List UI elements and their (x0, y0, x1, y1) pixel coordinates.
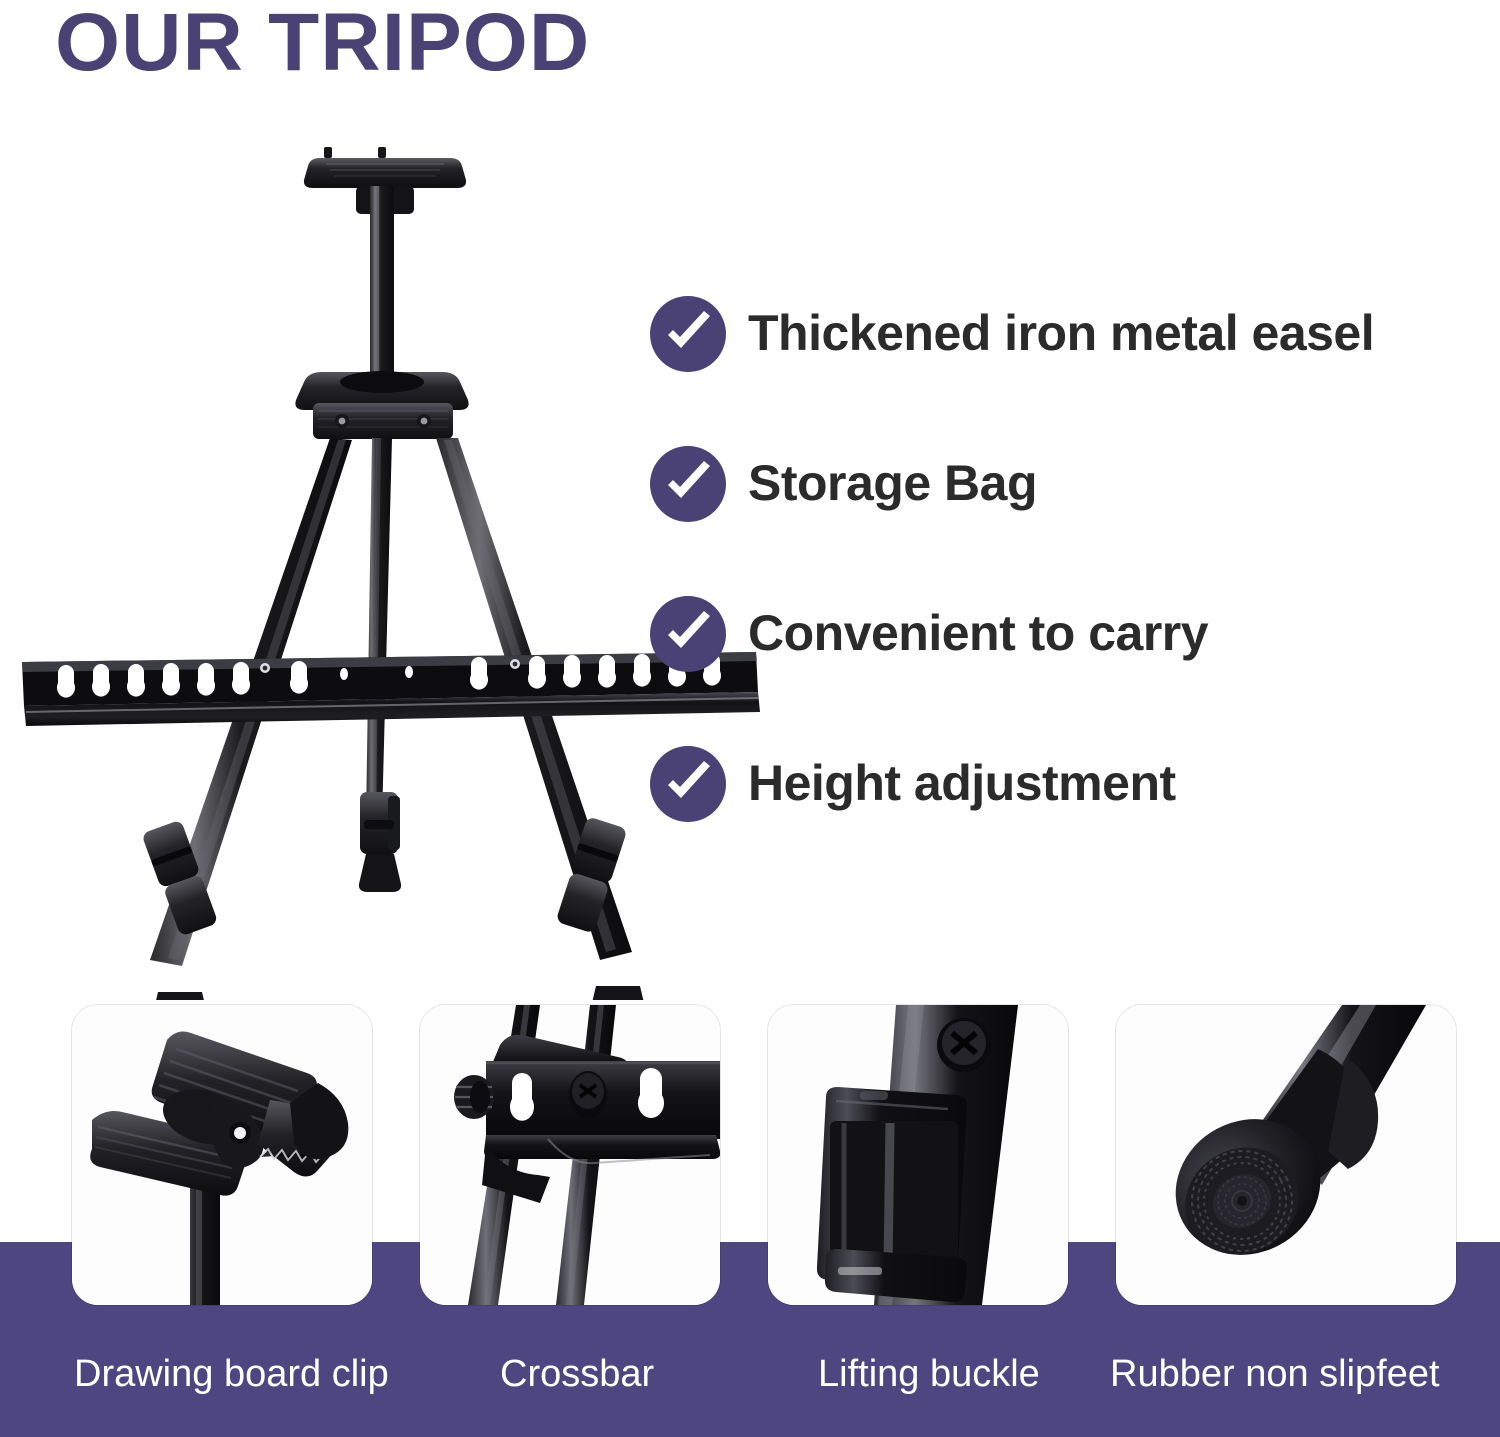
detail-card-drawing-board-clip (72, 1005, 372, 1305)
detail-caption: Lifting buckle (818, 1348, 1040, 1400)
detail-card-lifting-buckle (768, 1005, 1068, 1305)
detail-card-row (0, 1005, 1500, 1305)
detail-card-crossbar (420, 1005, 720, 1305)
feature-label: Convenient to carry (748, 602, 1208, 664)
check-circle-icon (650, 596, 726, 672)
check-circle-icon (650, 446, 726, 522)
detail-card-rubber-feet (1116, 1005, 1456, 1305)
infographic-page: OUR TRIPOD (0, 0, 1500, 1437)
check-circle-icon (650, 746, 726, 822)
feature-list: Thickened iron metal easel Storage Bag C… (650, 288, 1500, 888)
feature-item: Thickened iron metal easel (650, 288, 1500, 438)
detail-caption: Rubber non slipfeet (1110, 1348, 1440, 1400)
rubber-non-slip-feet-photo (1116, 1005, 1456, 1305)
lifting-buckle-photo (768, 1005, 1068, 1305)
detail-caption: Drawing board clip (74, 1348, 389, 1400)
upper-hub-bracket (295, 371, 468, 439)
feature-item: Convenient to carry (650, 588, 1500, 738)
feature-item: Height adjustment (650, 738, 1500, 888)
detail-caption-row: Drawing board clip Crossbar Lifting buck… (0, 1348, 1500, 1408)
page-title: OUR TRIPOD (55, 2, 590, 84)
check-circle-icon (650, 296, 726, 372)
feature-label: Storage Bag (748, 452, 1037, 514)
crossbar-knob (454, 1075, 494, 1119)
feature-label: Height adjustment (748, 752, 1176, 814)
detail-caption: Crossbar (500, 1348, 654, 1400)
feature-label: Thickened iron metal easel (748, 302, 1374, 364)
drawing-board-clip-photo (72, 1005, 372, 1305)
crossbar-photo (420, 1005, 720, 1305)
feature-item: Storage Bag (650, 438, 1500, 588)
